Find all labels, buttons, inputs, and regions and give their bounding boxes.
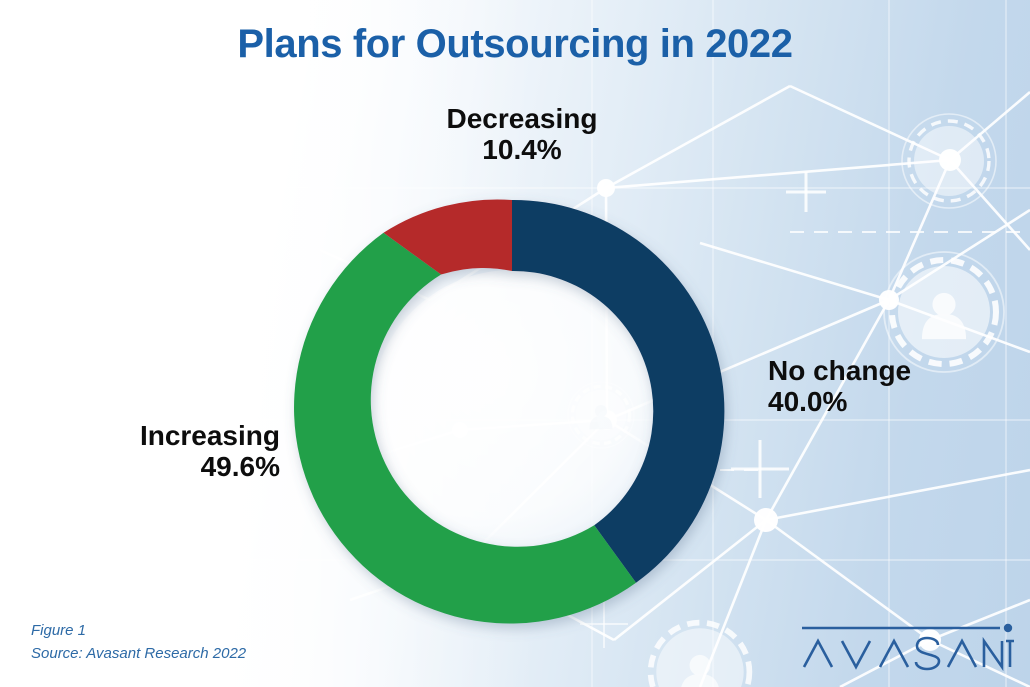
slice-label-no-change: No change 40.0% bbox=[768, 355, 1018, 418]
logo-wordmark bbox=[804, 638, 1014, 669]
slice-label-decreasing-name: Decreasing bbox=[372, 103, 672, 134]
source-line: Source: Avasant Research 2022 bbox=[31, 643, 246, 666]
figure-source-caption: Figure 1 Source: Avasant Research 2022 bbox=[31, 620, 246, 665]
avasant-logo bbox=[798, 617, 1014, 675]
slide-canvas: Plans for Outsourcing in 2022 bbox=[0, 0, 1030, 687]
slice-label-decreasing-value: 10.4% bbox=[372, 134, 672, 165]
slice-label-no-change-name: No change bbox=[768, 355, 1018, 386]
slice-label-no-change-value: 40.0% bbox=[768, 386, 1018, 417]
figure-number: Figure 1 bbox=[31, 620, 246, 643]
logo-dot bbox=[1004, 624, 1012, 632]
slice-label-increasing: Increasing 49.6% bbox=[30, 420, 280, 483]
slice-label-increasing-name: Increasing bbox=[30, 420, 280, 451]
slice-label-decreasing: Decreasing 10.4% bbox=[372, 103, 672, 166]
slice-label-increasing-value: 49.6% bbox=[30, 451, 280, 482]
